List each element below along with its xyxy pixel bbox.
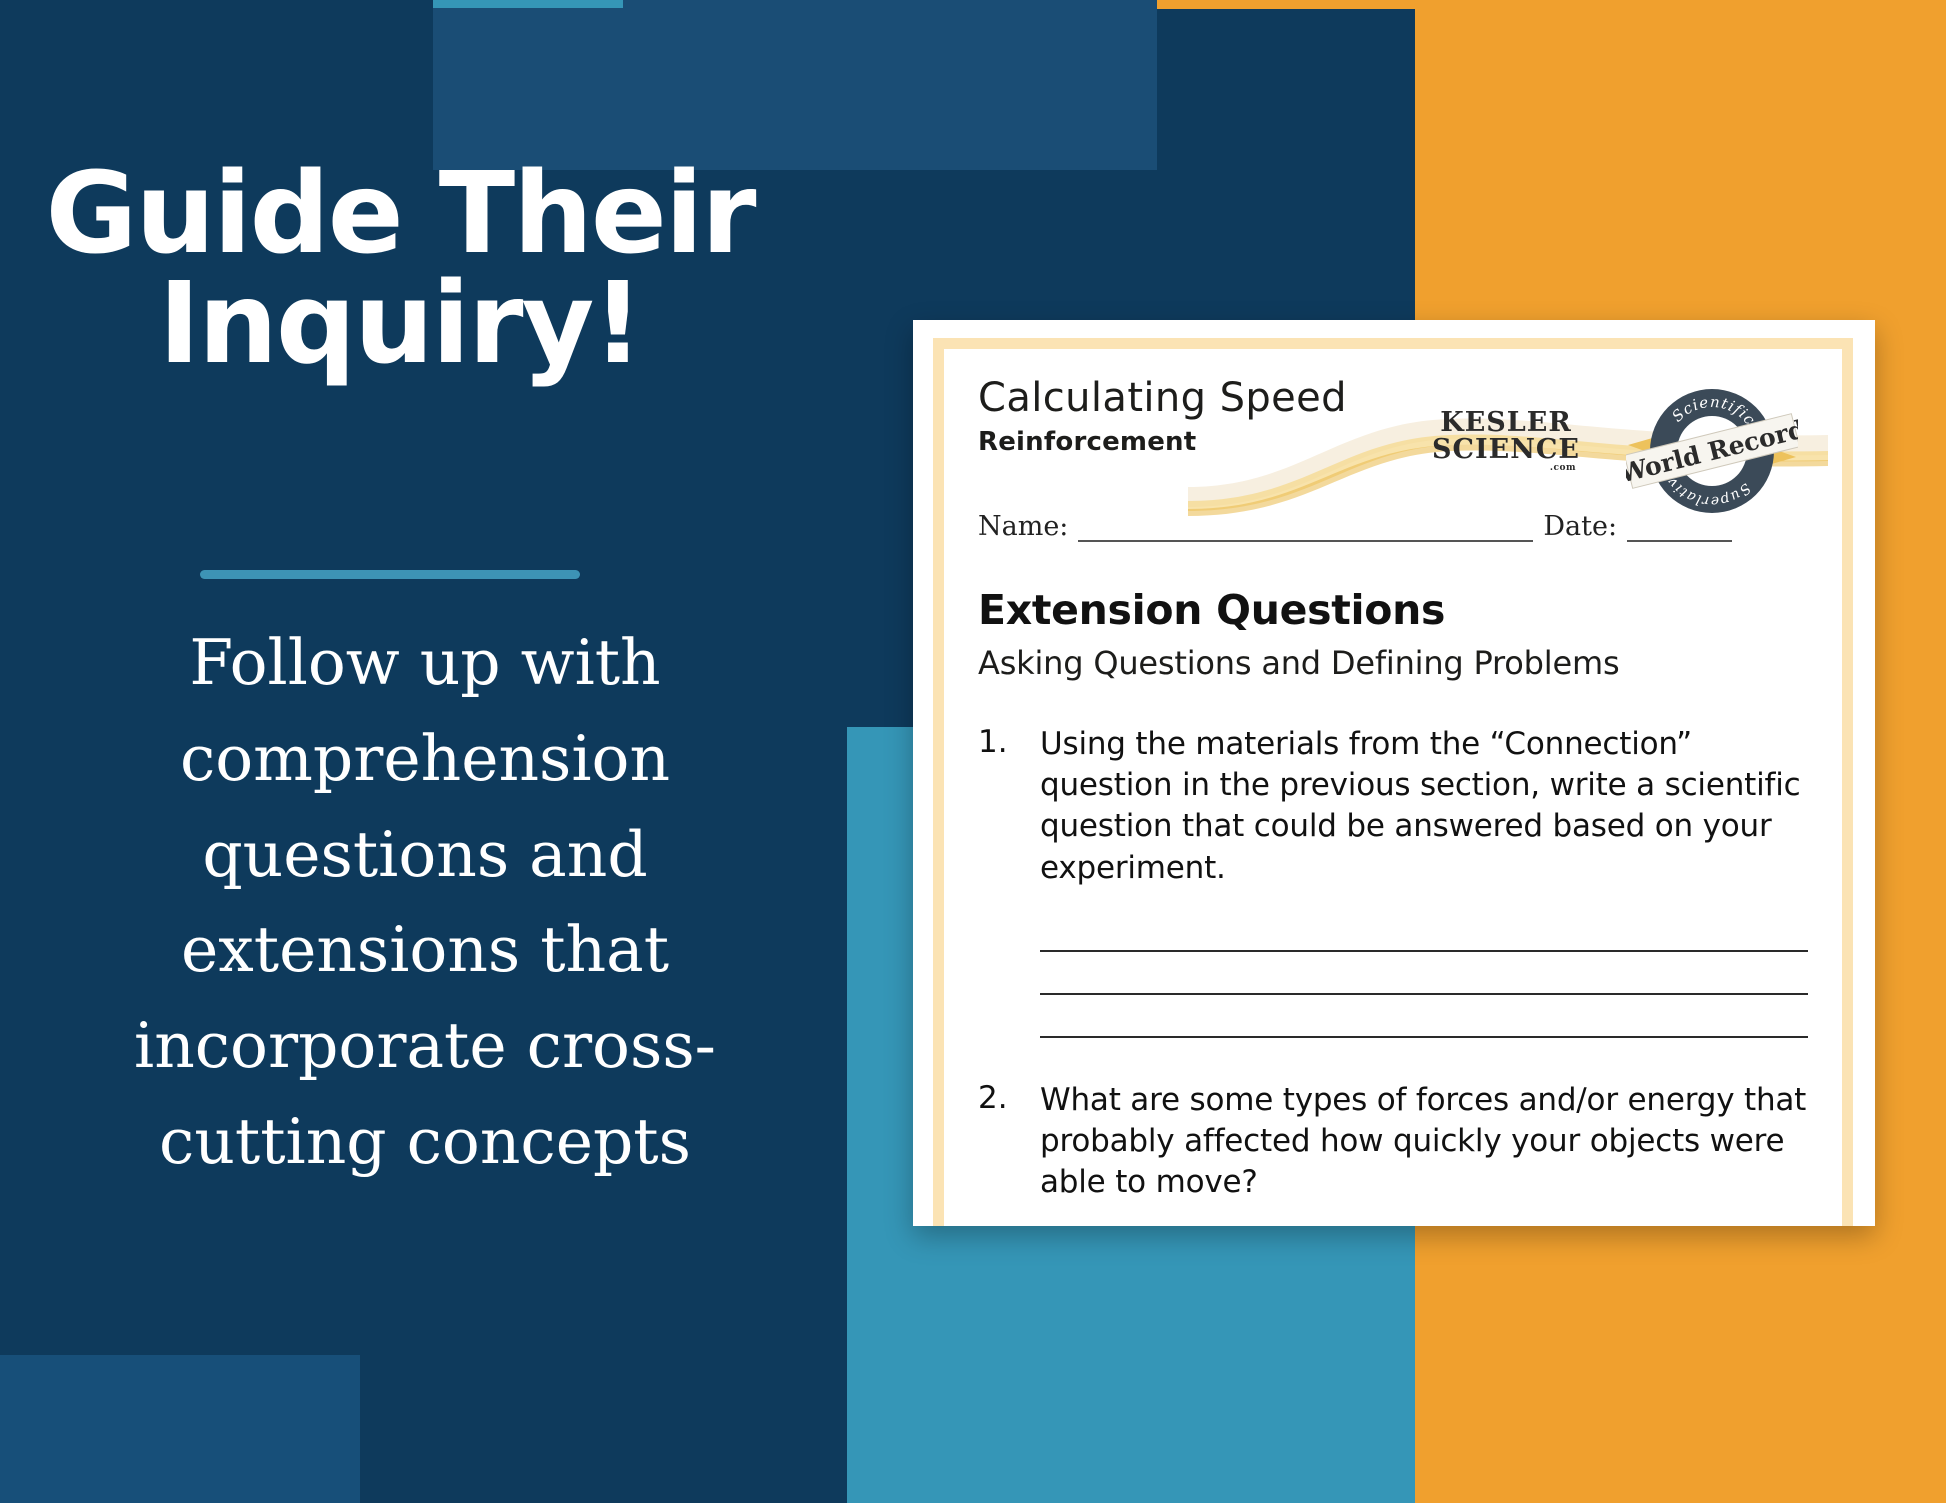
name-label: Name: [978,511,1068,542]
brand-line-1: KESLER [1432,409,1580,436]
question-number: 1. [978,724,1040,889]
question-item-2: 2. What are some types of forces and/or … [978,1080,1808,1204]
headline-line-1: Guide Their [0,160,800,270]
question-number: 2. [978,1080,1040,1204]
section-heading: Extension Questions [978,586,1808,634]
world-record-badge-icon: Scientific Superlatives World Record [1626,365,1798,537]
kesler-science-logo: KESLER SCIENCE .com [1432,409,1580,473]
brand-line-2: SCIENCE [1432,436,1580,463]
slide-text-column: Guide Their Inquiry! Follow up with comp… [0,0,847,1503]
question-text: What are some types of forces and/or ene… [1040,1080,1808,1204]
answer-line[interactable] [1040,952,1808,995]
section-subheading: Asking Questions and Defining Problems [978,644,1808,682]
answer-lines-group-1 [1040,909,1808,1038]
worksheet-card: Calculating Speed Reinforcement KESLER S… [913,320,1875,1226]
worksheet-inner-border: Calculating Speed Reinforcement KESLER S… [933,338,1853,1226]
answer-line[interactable] [1040,995,1808,1038]
title-divider-rule [200,570,580,579]
body-paragraph: Follow up with comprehension questions a… [30,615,820,1190]
brand-line-3: .com [1432,464,1580,473]
answer-line[interactable] [1040,909,1808,952]
question-item-1: 1. Using the materials from the “Connect… [978,724,1808,889]
question-text: Using the materials from the “Connection… [1040,724,1808,889]
name-input-line[interactable] [1078,518,1533,542]
worksheet-header: Calculating Speed Reinforcement KESLER S… [978,375,1808,505]
headline-line-2: Inquiry! [0,270,800,380]
page-title: Guide Their Inquiry! [0,160,800,380]
date-label: Date: [1543,511,1617,542]
worksheet-page: Calculating Speed Reinforcement KESLER S… [944,349,1842,1226]
